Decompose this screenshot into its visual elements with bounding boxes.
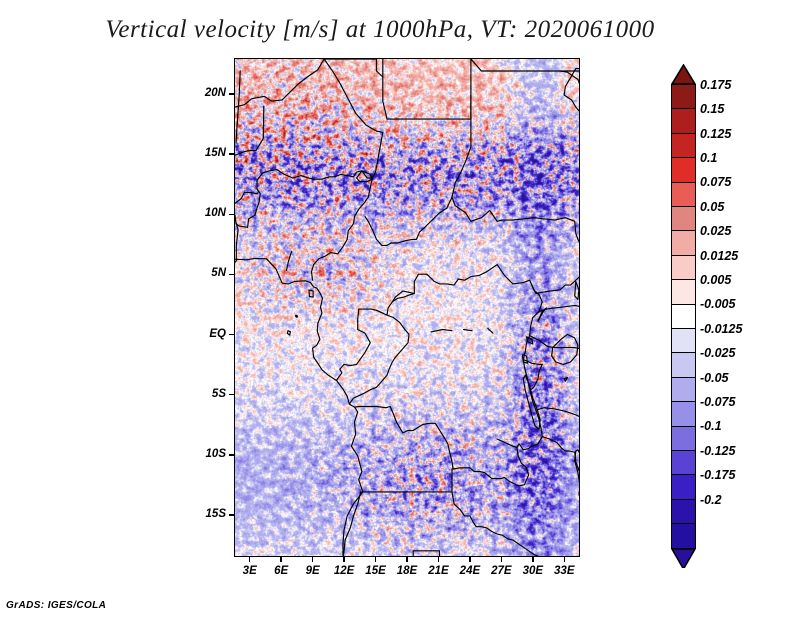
credit-text: GrADS: IGES/COLA — [6, 600, 106, 611]
y-axis-tick — [229, 214, 234, 216]
colorbar-swatch — [671, 352, 696, 378]
y-axis-label: 10N — [192, 207, 226, 219]
colorbar-tick-label: 0.15 — [700, 102, 724, 116]
x-axis-tick — [312, 557, 314, 562]
colorbar-tick-label: 0.025 — [700, 224, 731, 238]
colorbar-swatch — [671, 84, 696, 110]
x-axis-tick — [280, 557, 282, 562]
colorbar-swatch — [671, 523, 696, 549]
colorbar-swatch — [671, 108, 696, 134]
colorbar-swatch — [671, 182, 696, 208]
colorbar-tick-label: 0.075 — [700, 175, 731, 189]
y-axis-label: EQ — [192, 328, 226, 340]
y-axis-label: 10S — [192, 448, 226, 460]
y-axis-tick — [229, 153, 234, 155]
colorbar-tick-label: -0.025 — [700, 346, 735, 360]
colorbar-tick-label: 0.1 — [700, 151, 717, 165]
page-title: Vertical velocity [m/s] at 1000hPa, VT: … — [0, 16, 760, 44]
colorbar-swatch — [671, 401, 696, 427]
colorbar-tick-label: 0.175 — [700, 78, 731, 92]
x-axis-tick — [532, 557, 534, 562]
x-axis-tick — [438, 557, 440, 562]
x-axis-tick — [375, 557, 377, 562]
colorbar-arrow-bottom — [671, 548, 696, 568]
colorbar-swatch — [671, 474, 696, 500]
map-plot-area — [234, 58, 580, 557]
x-axis-tick — [249, 557, 251, 562]
y-axis-tick — [229, 454, 234, 456]
y-axis-tick — [229, 274, 234, 276]
y-axis-tick — [229, 394, 234, 396]
colorbar-swatch — [671, 304, 696, 330]
colorbar-tick-label: -0.125 — [700, 444, 735, 458]
colorbar-tick-label: -0.0125 — [700, 322, 742, 336]
x-axis-tick — [406, 557, 408, 562]
colorbar-swatch — [671, 450, 696, 476]
colorbar-swatch — [671, 230, 696, 256]
y-axis-tick — [229, 334, 234, 336]
colorbar-tick-label: 0.05 — [700, 200, 724, 214]
y-axis-label: 15S — [192, 508, 226, 520]
colorbar-tick-label: 0.0125 — [700, 249, 738, 263]
x-axis-tick — [501, 557, 503, 562]
x-axis-tick — [469, 557, 471, 562]
colorbar[interactable]: 0.1750.150.1250.10.0750.050.0250.01250.0… — [671, 64, 697, 556]
colorbar-tick-label: 0.005 — [700, 273, 731, 287]
y-axis-label: 15N — [192, 147, 226, 159]
y-axis-label: 5S — [192, 388, 226, 400]
x-axis-tick — [343, 557, 345, 562]
y-axis-label: 20N — [192, 87, 226, 99]
colorbar-swatch — [671, 279, 696, 305]
colorbar-tick-label: -0.05 — [700, 371, 729, 385]
colorbar-tick-label: -0.2 — [700, 493, 722, 507]
colorbar-tick-label: -0.005 — [700, 297, 735, 311]
colorbar-swatch — [671, 328, 696, 354]
colorbar-tick-label: -0.175 — [700, 468, 735, 482]
colorbar-tick-label: 0.125 — [700, 127, 731, 141]
y-axis-label: 5N — [192, 267, 226, 279]
y-axis-tick — [229, 514, 234, 516]
colorbar-swatch — [671, 133, 696, 159]
country-borders-overlay — [235, 59, 580, 557]
x-axis-tick — [564, 557, 566, 562]
colorbar-swatch — [671, 157, 696, 183]
colorbar-swatch — [671, 255, 696, 281]
colorbar-arrow-top — [671, 64, 696, 84]
colorbar-swatch — [671, 377, 696, 403]
x-axis-label: 33E — [546, 565, 582, 577]
colorbar-swatch — [671, 206, 696, 232]
colorbar-swatch — [671, 426, 696, 452]
colorbar-tick-label: -0.075 — [700, 395, 735, 409]
colorbar-tick-label: -0.1 — [700, 419, 722, 433]
y-axis-tick — [229, 93, 234, 95]
colorbar-swatch — [671, 499, 696, 525]
